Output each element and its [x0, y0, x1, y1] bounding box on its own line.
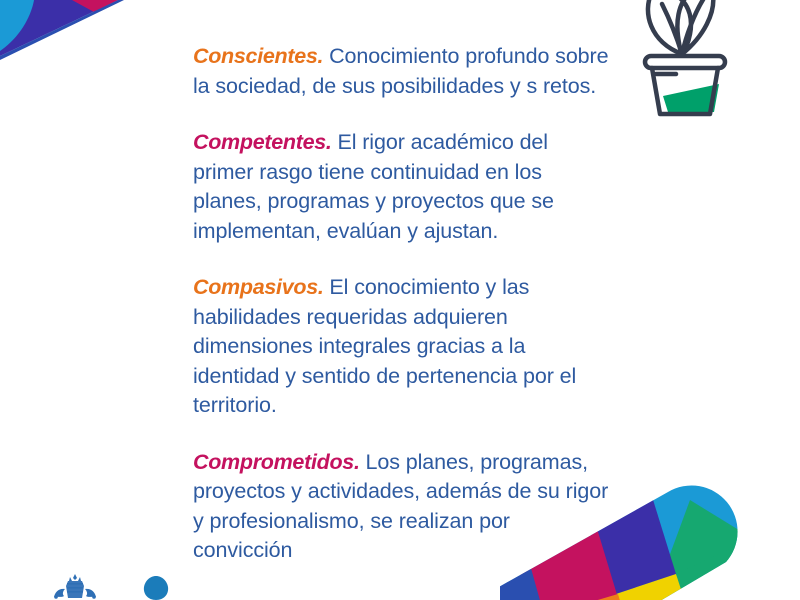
potted-plant-icon	[620, 0, 750, 138]
lead-word-competentes: Competentes.	[193, 130, 332, 154]
institutional-crest-logo	[52, 572, 98, 600]
paragraph-compasivos: Compasivos. El conocimiento y las habili…	[193, 273, 613, 421]
lead-word-compasivos: Compasivos.	[193, 275, 324, 299]
slide-canvas: Conscientes. Conocimiento profundo sobre…	[0, 0, 800, 600]
lead-word-conscientes: Conscientes.	[193, 44, 323, 68]
paragraph-competentes: Competentes. El rigor académico del prim…	[193, 128, 613, 246]
paragraph-conscientes: Conscientes. Conocimiento profundo sobre…	[193, 42, 613, 101]
lead-word-comprometidos: Comprometidos.	[193, 450, 360, 474]
corner-ribbon-top-left	[0, 0, 130, 62]
paragraph-comprometidos: Comprometidos. Los planes, programas, pr…	[193, 448, 613, 566]
text-column: Conscientes. Conocimiento profundo sobre…	[193, 42, 613, 566]
blue-blob-logo	[141, 574, 171, 600]
